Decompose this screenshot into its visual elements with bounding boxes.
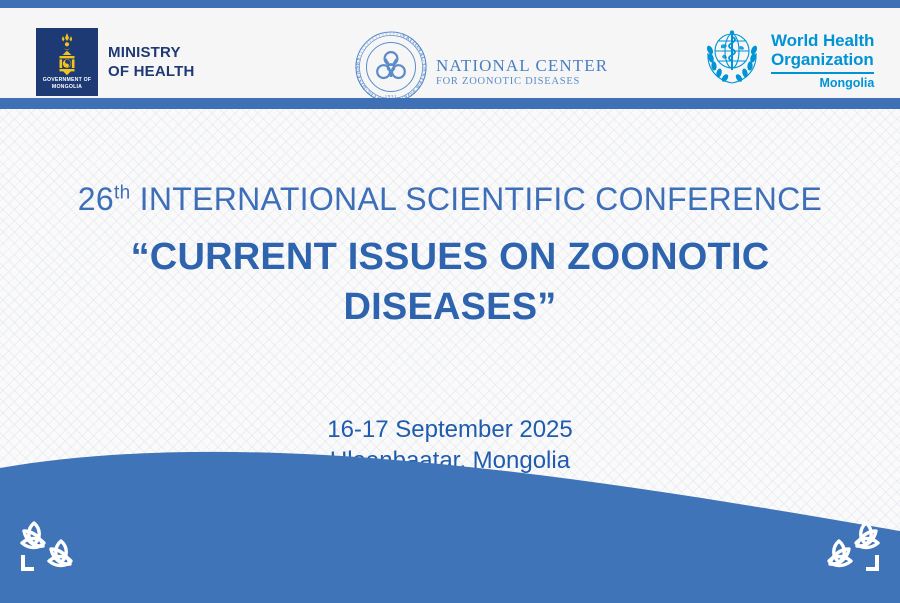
who-underline bbox=[771, 72, 874, 74]
edition-ordinal-suffix: th bbox=[114, 182, 130, 203]
nczd-name-line2: FOR ZOONOTIC DISEASES bbox=[436, 75, 608, 89]
slide-body: 26th INTERNATIONAL SCIENTIFIC CONFERENCE… bbox=[0, 109, 900, 603]
nczd-name: NATIONAL CENTER FOR ZOONOTIC DISEASES bbox=[436, 46, 608, 89]
ministry-of-health-logo: GOVERNMENT OF MONGOLIA MINISTRY OF HEALT… bbox=[36, 28, 195, 96]
emblem-caption: GOVERNMENT OF MONGOLIA bbox=[36, 77, 98, 91]
nczd-name-line1: NATIONAL CENTER bbox=[436, 56, 608, 75]
ministry-name-line2: OF HEALTH bbox=[108, 62, 195, 81]
corner-bracket-icon bbox=[23, 555, 34, 569]
conference-theme-title: “CURRENT ISSUES ON ZOONOTIC DISEASES” bbox=[100, 232, 800, 332]
mongolia-government-emblem: GOVERNMENT OF MONGOLIA bbox=[36, 28, 98, 96]
soyombo-icon bbox=[52, 32, 82, 78]
emblem-caption-line2: MONGOLIA bbox=[36, 84, 98, 91]
who-name-line1: World Health bbox=[771, 31, 874, 50]
corner-bracket-icon bbox=[866, 555, 877, 569]
nczd-logo: NATIONAL CENTER FOR ZOONOTIC DISEASES 19… bbox=[352, 28, 608, 106]
ministry-name-line1: MINISTRY bbox=[108, 43, 195, 62]
conference-edition-title: 26th INTERNATIONAL SCIENTIFIC CONFERENCE bbox=[0, 179, 900, 219]
conference-title-slide: GOVERNMENT OF MONGOLIA MINISTRY OF HEALT… bbox=[0, 0, 900, 603]
edition-number: 26 bbox=[78, 181, 114, 217]
who-name-line2: Organization bbox=[771, 50, 874, 69]
title-block: 26th INTERNATIONAL SCIENTIFIC CONFERENCE… bbox=[0, 179, 900, 332]
event-meta-block: 16-17 September 2025 Ulaanbaatar, Mongol… bbox=[0, 414, 900, 476]
event-date: 16-17 September 2025 bbox=[0, 414, 900, 445]
mongolian-knot-ornament-left bbox=[14, 517, 92, 579]
who-logo: World Health Organization Mongolia bbox=[700, 26, 874, 90]
who-emblem-icon bbox=[700, 26, 764, 88]
emblem-caption-line1: GOVERNMENT OF bbox=[36, 77, 98, 84]
top-accent-bar bbox=[0, 0, 900, 8]
header-divider-bar bbox=[0, 98, 900, 109]
who-country-label: Mongolia bbox=[771, 76, 874, 90]
event-location: Ulaanbaatar, Mongolia bbox=[0, 445, 900, 476]
who-wordmark: World Health Organization Mongolia bbox=[771, 26, 874, 90]
nczd-seal-icon: NATIONAL CENTER FOR ZOONOTIC DISEASES 19… bbox=[352, 28, 430, 106]
mongolian-knot-ornament-right bbox=[808, 517, 886, 579]
conference-label: INTERNATIONAL SCIENTIFIC CONFERENCE bbox=[130, 181, 822, 217]
logo-header: GOVERNMENT OF MONGOLIA MINISTRY OF HEALT… bbox=[0, 8, 900, 98]
ministry-of-health-name: MINISTRY OF HEALTH bbox=[108, 43, 195, 81]
